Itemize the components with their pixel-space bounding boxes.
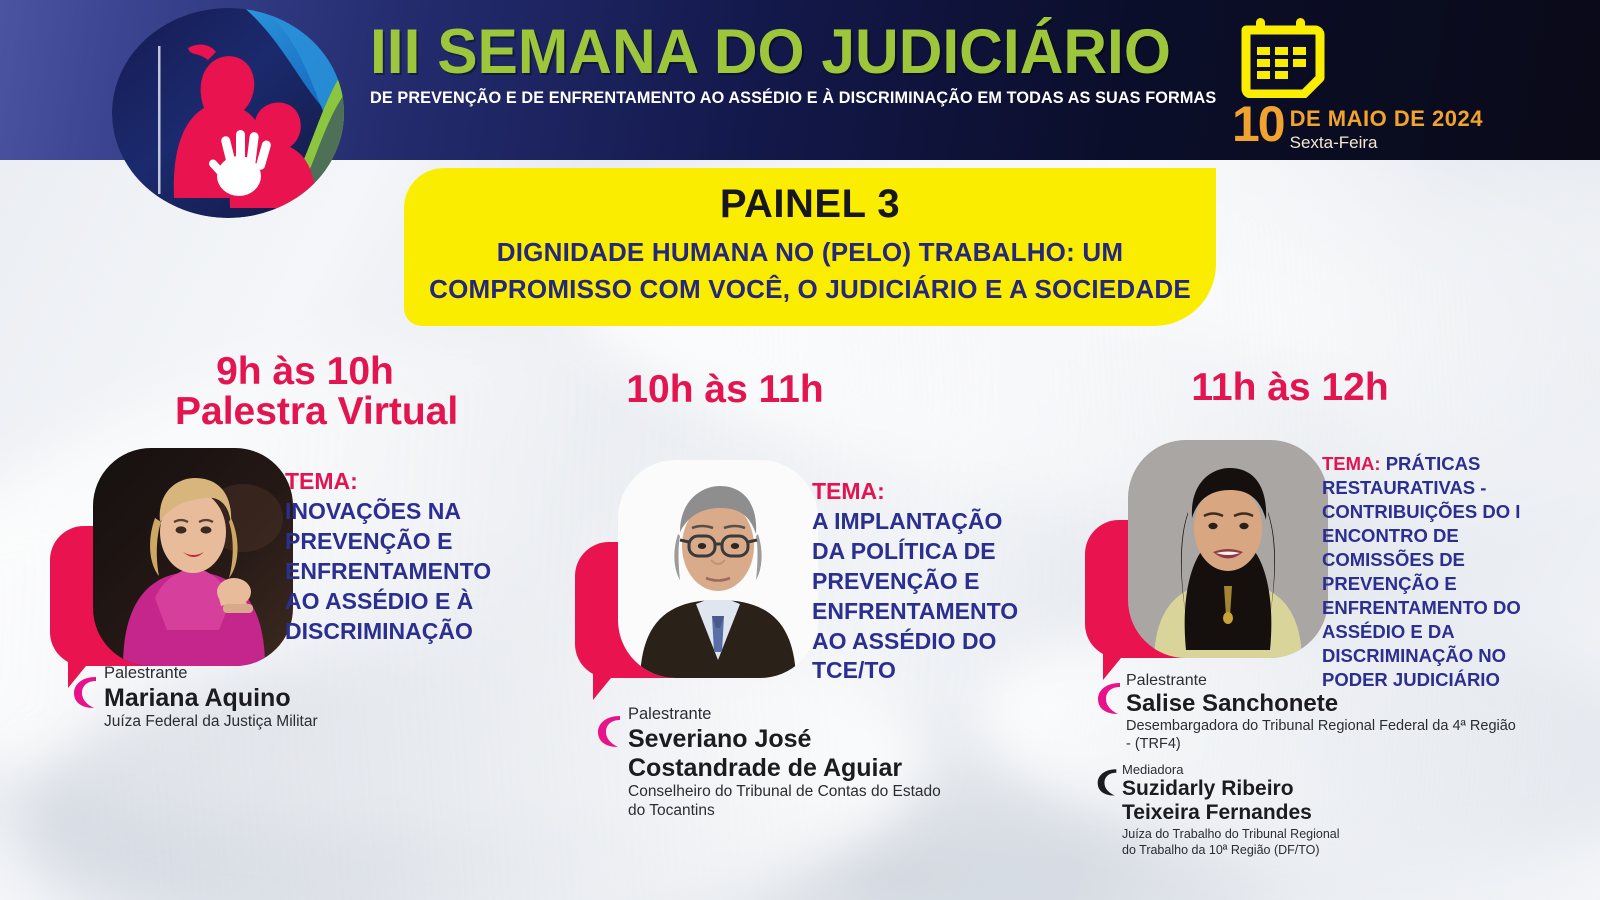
speaker-photo-bubble-2 xyxy=(575,460,825,710)
session-time-2: 10h às 11h xyxy=(560,370,890,410)
session-theme-2: TEMA: A IMPLANTAÇÃO DA POLÍTICA DE PREVE… xyxy=(812,478,1042,686)
speaker-photo-bubble-3 xyxy=(1085,440,1335,690)
header-title-block: III SEMANA DO JUDICIÁRIO DE PREVENÇÃO E … xyxy=(370,22,1210,108)
speaker-credential-1: Juíza Federal da Justiça Militar xyxy=(104,713,402,732)
session-theme-3: TEMA: PRÁTICAS RESTAURATIVAS - CONTRIBUI… xyxy=(1322,452,1582,692)
quote-icon xyxy=(1096,680,1122,716)
panel-heading: PAINEL 3 xyxy=(720,182,900,227)
speaker-photo-1 xyxy=(93,448,293,666)
bubble-tail xyxy=(593,656,629,700)
speaker-name-2: Severiano José Costandrade de Aguiar xyxy=(628,725,966,782)
speaker-credential-2: Conselheiro do Tribunal de Contas do Est… xyxy=(628,783,958,821)
speaker-name-3: Salise Sanchonete xyxy=(1126,691,1526,717)
speaker-block-1: Palestrante Mariana Aquino Juíza Federal… xyxy=(72,664,402,732)
theme-label-1: TEMA: xyxy=(285,468,535,495)
session-time-1: 9h às 10hPalestra Virtual xyxy=(175,352,435,432)
theme-text-1: INOVAÇÕES NA PREVENÇÃO E ENFRENTAMENTO A… xyxy=(285,497,535,646)
speaker-role-2: Palestrante xyxy=(628,705,966,724)
calendar-icon xyxy=(1240,16,1326,103)
mediator-credential-3: Juíza do Trabalho do Tribunal Regional d… xyxy=(1122,826,1496,859)
event-poster: III SEMANA DO JUDICIÁRIO DE PREVENÇÃO E … xyxy=(0,0,1600,900)
date-detail: DE MAIO DE 2024 Sexta-Feira xyxy=(1290,106,1483,153)
quote-icon xyxy=(72,674,98,710)
theme-label-3: TEMA: xyxy=(1322,453,1381,474)
event-date-block: 10 DE MAIO DE 2024 Sexta-Feira xyxy=(1232,16,1532,148)
session-time-3: 11h às 12h xyxy=(1140,368,1440,408)
date-day: 10 xyxy=(1232,104,1284,144)
speaker-block-2: Palestrante Severiano José Costandrade d… xyxy=(596,705,966,821)
speaker-name-1: Mariana Aquino xyxy=(104,684,402,712)
speaker-photo-2 xyxy=(618,460,818,678)
theme-text-3: TEMA: PRÁTICAS RESTAURATIVAS - CONTRIBUI… xyxy=(1322,452,1582,692)
speaker-photo-3 xyxy=(1128,440,1328,658)
event-logo xyxy=(112,8,345,218)
session-theme-1: TEMA: INOVAÇÕES NA PREVENÇÃO E ENFRENTAM… xyxy=(285,468,535,646)
page-title: III SEMANA DO JUDICIÁRIO xyxy=(370,22,1176,82)
date-weekday: Sexta-Feira xyxy=(1290,133,1483,153)
speaker-credential-3: Desembargadora do Tribunal Regional Fede… xyxy=(1126,718,1526,754)
theme-text-2: A IMPLANTAÇÃO DA POLÍTICA DE PREVENÇÃO E… xyxy=(812,507,1042,686)
panel-banner: PAINEL 3 DIGNIDADE HUMANA NO (PELO) TRAB… xyxy=(404,168,1216,326)
header-subtitle: DE PREVENÇÃO E DE ENFRENTAMENTO AO ASSÉD… xyxy=(370,89,1197,108)
speaker-role-3: Palestrante xyxy=(1126,672,1526,690)
quote-icon xyxy=(1096,766,1118,798)
mediator-name-3: Suzidarly Ribeiro Teixeira Fernandes xyxy=(1122,777,1352,824)
logo-circle xyxy=(112,8,345,218)
mediator-block-3b: Mediadora Suzidarly Ribeiro Teixeira Fer… xyxy=(1096,762,1496,859)
theme-label-2: TEMA: xyxy=(812,478,1042,505)
panel-subtitle-line-1: DIGNIDADE HUMANA NO (PELO) TRABALHO: UM xyxy=(497,237,1123,268)
poster-header: III SEMANA DO JUDICIÁRIO DE PREVENÇÃO E … xyxy=(0,0,1600,160)
speaker-role-1: Palestrante xyxy=(104,664,402,683)
date-text-row: 10 DE MAIO DE 2024 Sexta-Feira xyxy=(1232,104,1483,153)
quote-icon xyxy=(596,713,622,749)
panel-subtitle-line-2: COMPROMISSO COM VOCÊ, O JUDICIÁRIO E A S… xyxy=(429,274,1191,305)
speaker-block-3a: Palestrante Salise Sanchonete Desembarga… xyxy=(1096,672,1526,754)
mediator-role-3: Mediadora xyxy=(1122,762,1496,777)
date-month-year: DE MAIO DE 2024 xyxy=(1290,106,1483,132)
